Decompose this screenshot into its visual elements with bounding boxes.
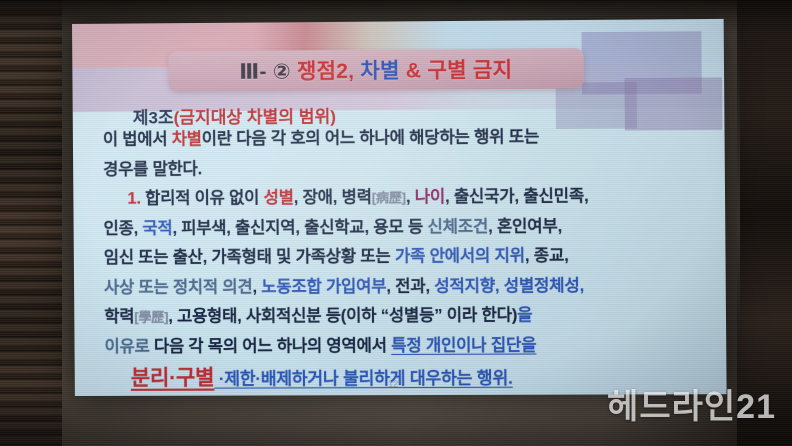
decorative-square-2 <box>624 77 722 130</box>
text-span: , 장애, 병력 <box>294 188 372 206</box>
slide-title: Ⅲ- ② 쟁점2, 차별 & 구별 금지 <box>239 54 512 86</box>
text-span: 이 법에서 <box>103 130 172 148</box>
title-blue: 차별 <box>360 60 400 83</box>
slide-body-text: 이 법에서 차별이란 다음 각 호의 어느 하나에 해당하는 행위 또는경우를 … <box>103 128 708 396</box>
text-span: , <box>425 277 434 295</box>
text-span: 을 <box>517 306 532 324</box>
slide-subtitle: 제3조(금지대상 차별의 범위) <box>133 102 336 128</box>
text-span: [學歷] <box>134 310 168 325</box>
text-span: 임신 또는 출산, 가족형태 및 가족상황 또는 <box>104 247 395 266</box>
photograph-of-presentation-screen: Ⅲ- ② 쟁점2, 차별 & 구별 금지 제3조(금지대상 차별의 범위) 이 … <box>0 0 792 446</box>
text-span: 1. <box>127 190 145 208</box>
subtitle-paren: (금지대상 차별의 범위) <box>174 107 336 127</box>
text-span: 이유로 <box>104 337 149 355</box>
text-span: 특정 개인이나 집단을 <box>391 336 536 355</box>
title-red-2: & 구별 금지 <box>400 59 513 83</box>
text-span: , 출신국가, 출신민족, <box>445 187 589 206</box>
text-span: 차별 <box>172 130 202 148</box>
text-span: 노동조합 가입여부 <box>261 277 386 296</box>
line-2: 경우를 말한다. <box>103 158 706 178</box>
text-span: 사상 또는 정치적 의견 <box>104 278 253 297</box>
text-span: , 혼인여부, <box>488 217 562 235</box>
text-span: 나이 <box>415 188 445 206</box>
text-span: 성적지향, 성별정체성, <box>434 276 584 295</box>
title-numeral: Ⅲ- ② <box>239 60 297 83</box>
text-span: 이란 다음 각 호의 어느 하나에 해당하는 행위 또는 <box>202 128 540 148</box>
text-span: 인종, <box>104 219 143 237</box>
subtitle-article: 제3조 <box>133 108 174 127</box>
text-span: , <box>406 188 415 206</box>
text-span: ·제한·배제하거나 불리하게 대우하는 행위. <box>214 369 512 389</box>
line-4: 인종, 국적, 피부색, 출신지역, 출신학교, 용모 등 신체조건, 혼인여부… <box>104 217 707 237</box>
line-8: 이유로 다음 각 목의 어느 하나의 영역에서 특정 개인이나 집단을 <box>104 336 707 355</box>
title-red-1: 쟁점2, <box>297 60 361 84</box>
text-span: 국적 <box>142 219 172 237</box>
text-span: , 피부색, 출신지역, 출신학교, 용모 등 <box>172 218 427 237</box>
slide-page-number: 12 <box>388 379 398 389</box>
text-span: , 종교, <box>525 247 569 265</box>
line-3: 1. 합리적 이유 없이 성별, 장애, 병력[病歷], 나이, 출신국가, 출… <box>103 187 706 207</box>
text-span: 분리·구별 <box>131 367 215 390</box>
text-span: 학력 <box>104 308 134 326</box>
presentation-slide: Ⅲ- ② 쟁점2, 차별 & 구별 금지 제3조(금지대상 차별의 범위) 이 … <box>72 19 727 396</box>
text-span: “성별등” <box>381 307 443 325</box>
projection-screen: Ⅲ- ② 쟁점2, 차별 & 구별 금지 제3조(금지대상 차별의 범위) 이 … <box>72 19 727 396</box>
line-7: 학력[學歷], 고용형태, 사회적신분 등(이하 “성별등” 이라 한다)을 <box>104 307 707 326</box>
slide-title-pill: Ⅲ- ② 쟁점2, 차별 & 구별 금지 <box>168 48 584 91</box>
watermark-headline21: 헤드라인21 <box>607 379 776 428</box>
text-span: , 고용형태, 사회적신분 등(이하 <box>168 307 381 326</box>
text-span: 경우를 말한다. <box>103 160 202 179</box>
text-span: , <box>386 277 395 295</box>
line-1: 이 법에서 차별이란 다음 각 호의 어느 하나에 해당하는 행위 또는 <box>103 128 706 148</box>
wood-panel-left <box>0 0 62 446</box>
text-span: 합리적 이유 없이 <box>145 189 264 208</box>
text-span: 가족 안에서의 지위 <box>395 247 525 266</box>
line-6: 사상 또는 정치적 의견, 노동조합 가입여부, 전과, 성적지향, 성별정체성… <box>104 277 707 296</box>
line-5: 임신 또는 출산, 가족형태 및 가족상황 또는 가족 안에서의 지위, 종교, <box>104 247 707 266</box>
text-span: 전과 <box>395 277 425 295</box>
text-span: 신체조건 <box>427 217 488 235</box>
text-span: , <box>252 278 261 296</box>
text-span: [病歷] <box>372 190 406 205</box>
text-span: 다음 각 목의 어느 하나의 영역에서 <box>149 336 391 355</box>
text-span: 성별 <box>264 189 294 207</box>
text-span: 이라 한다) <box>442 306 517 324</box>
